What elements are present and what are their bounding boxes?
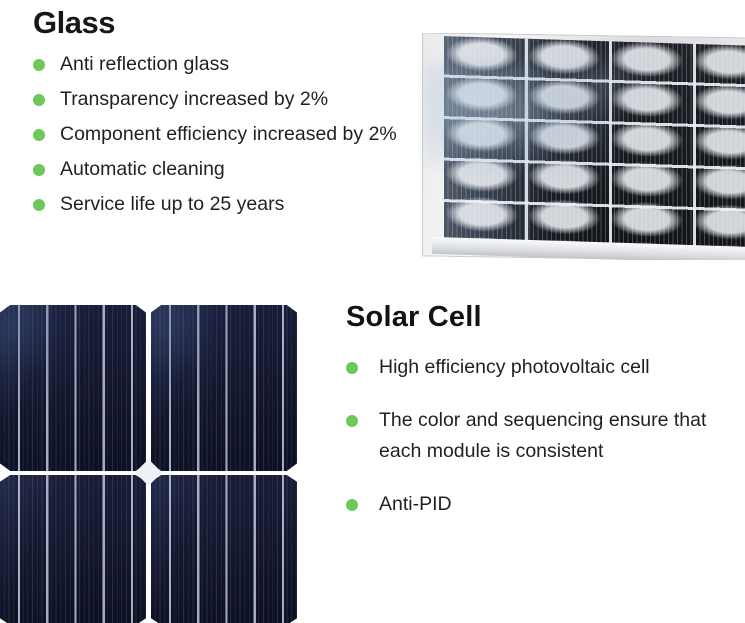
bullet-dot-icon (33, 59, 45, 71)
list-item-label: Component efficiency increased by 2% (60, 119, 423, 150)
module-laminate-area (444, 36, 745, 251)
bullet-dot-icon (346, 499, 358, 511)
cell-array (0, 304, 297, 623)
list-item-label: Service life up to 25 years (60, 189, 423, 220)
list-item-label: The color and sequencing ensure that eac… (379, 405, 741, 467)
list-item: The color and sequencing ensure that eac… (346, 405, 741, 467)
list-item: Anti reflection glass (33, 49, 423, 80)
list-item: High efficiency photovoltaic cell (346, 352, 741, 383)
list-item-label: Anti reflection glass (60, 49, 423, 80)
bullet-dot-icon (33, 199, 45, 211)
bullet-dot-icon (33, 129, 45, 141)
bullet-dot-icon (33, 164, 45, 176)
bullet-dot-icon (346, 415, 358, 427)
bullet-dot-icon (346, 362, 358, 374)
mono-cell (151, 475, 297, 623)
glass-section-title: Glass (33, 4, 423, 42)
list-item-label: Anti-PID (379, 489, 741, 520)
bullet-dot-icon (33, 94, 45, 106)
glass-reflection-secondary (543, 47, 655, 120)
cell-sheen (136, 304, 238, 413)
mono-cell (0, 475, 146, 623)
list-item: Transparency increased by 2% (33, 84, 423, 115)
list-item: Service life up to 25 years (33, 189, 423, 220)
list-item-label: Automatic cleaning (60, 154, 423, 185)
cell-busbars (0, 475, 146, 623)
cell-sheen (0, 304, 88, 413)
solar-cell-feature-list: High efficiency photovoltaic cell The co… (346, 352, 741, 520)
mono-cell (0, 305, 146, 471)
list-item-label: High efficiency photovoltaic cell (379, 352, 741, 383)
photovoltaic-module-photo (418, 33, 745, 260)
feature-page: Glass Anti reflection glass Transparency… (0, 0, 745, 623)
module-aluminium-frame (422, 33, 745, 260)
list-item: Automatic cleaning (33, 154, 423, 185)
list-item: Component efficiency increased by 2% (33, 119, 423, 150)
glass-feature-block: Glass Anti reflection glass Transparency… (33, 4, 423, 224)
solar-cell-closeup-photo (0, 304, 297, 623)
list-item: Anti-PID (346, 489, 741, 520)
solar-cell-section-title: Solar Cell (346, 299, 741, 335)
list-item-label: Transparency increased by 2% (60, 84, 423, 115)
solar-cell-feature-block: Solar Cell High efficiency photovoltaic … (346, 299, 741, 542)
glass-feature-list: Anti reflection glass Transparency incre… (33, 49, 423, 220)
cell-busbars (151, 475, 297, 623)
mono-cell (151, 305, 297, 471)
